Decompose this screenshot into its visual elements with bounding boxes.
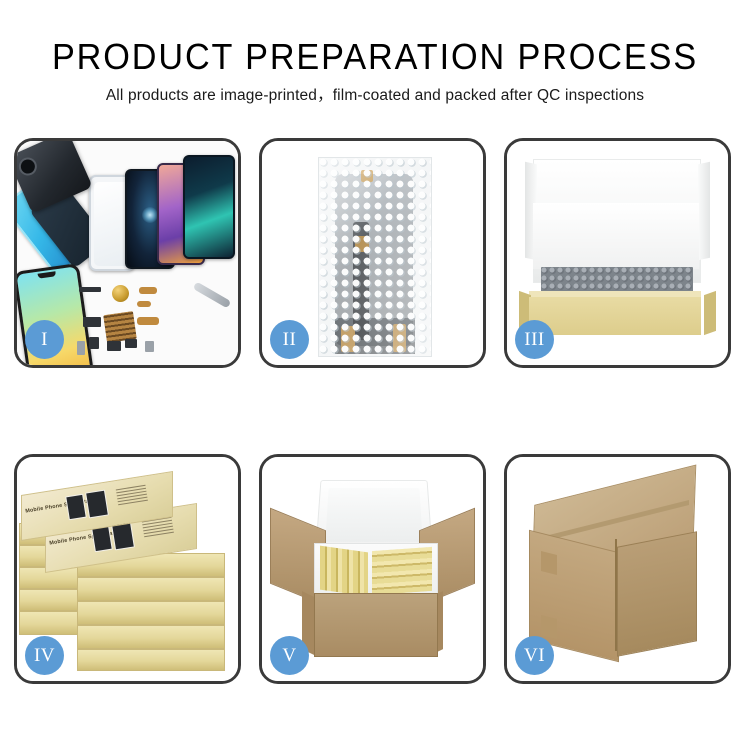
foam-sheet — [533, 203, 699, 269]
small-part-chip — [89, 337, 99, 349]
step-badge-2: II — [270, 320, 309, 359]
yellow-boxes-group — [372, 547, 432, 595]
carton-right-face — [617, 531, 697, 657]
small-part-silver — [145, 341, 154, 352]
stacked-box — [77, 577, 225, 601]
box-right-corner — [704, 291, 716, 335]
small-part-chip — [107, 341, 121, 351]
carton-tape-mark — [541, 615, 557, 639]
process-step-panel-5[interactable]: V — [259, 454, 486, 684]
page-title: PRODUCT PREPARATION PROCESS — [19, 36, 732, 78]
small-part-flex — [139, 287, 157, 294]
yellow-box-front — [529, 297, 701, 335]
stacked-box — [77, 601, 225, 625]
step-badge-1: I — [25, 320, 64, 359]
gold-component — [112, 285, 129, 302]
step-badge-4: IV — [25, 636, 64, 675]
phone-teal-wave — [183, 155, 235, 259]
foam-lid-open — [315, 480, 432, 551]
small-part-chip — [79, 287, 101, 292]
process-step-panel-4[interactable]: Mobile Phone Spare Parts Mobile Phone Sp… — [14, 454, 241, 684]
box-phone-image — [85, 490, 109, 519]
process-step-panel-3[interactable]: III — [504, 138, 731, 368]
small-part-silver — [77, 341, 85, 355]
small-part-chip — [125, 339, 137, 348]
page-subtitle: All products are image-printed，film-coat… — [0, 85, 750, 107]
process-step-panel-2[interactable]: II — [259, 138, 486, 368]
small-part-flex — [137, 301, 151, 307]
lid-right-flap — [698, 162, 710, 261]
page-header: PRODUCT PREPARATION PROCESS All products… — [0, 0, 750, 107]
bubble-wrap-bag — [318, 157, 432, 357]
stacked-box — [77, 649, 225, 671]
foam-lid-inner — [325, 488, 422, 542]
carton-front-edge — [615, 539, 617, 651]
step-badge-5: V — [270, 636, 309, 675]
carton-front-face — [314, 593, 438, 657]
small-part-chip — [83, 317, 101, 327]
process-step-panel-1[interactable]: I — [14, 138, 241, 368]
step-badge-6: VI — [515, 636, 554, 675]
box-phone-image — [91, 526, 113, 553]
box-phone-image — [65, 494, 87, 521]
step-badge-3: III — [515, 320, 554, 359]
carton-tape-mark — [541, 551, 557, 575]
yellow-boxes-group — [320, 546, 368, 597]
stacked-box — [77, 625, 225, 649]
small-part-flex — [137, 317, 159, 325]
plastic-sheen — [319, 158, 431, 356]
process-step-panel-6[interactable]: VI — [504, 454, 731, 684]
process-step-grid: I II — [14, 138, 736, 684]
